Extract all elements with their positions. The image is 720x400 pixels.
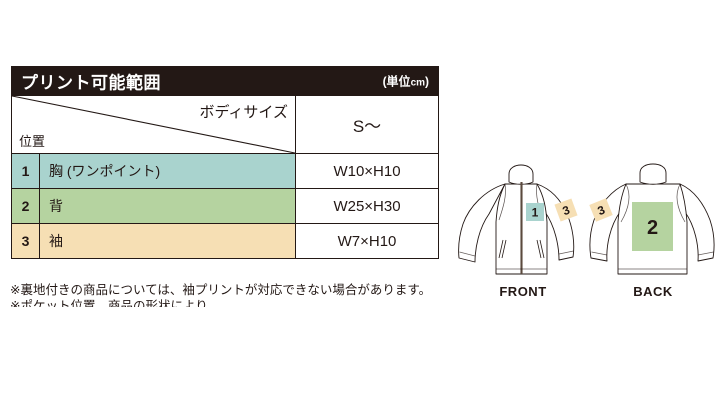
- header-size-value: S〜: [296, 96, 439, 154]
- front-caption: FRONT: [478, 284, 568, 299]
- front-badge-1-label: 1: [532, 206, 539, 220]
- print-area-table: プリント可能範囲 (単位cm) ボディサイズ 位置 S〜 1 胸 (ワンポイント: [11, 66, 438, 259]
- back-badge-2-label: 2: [647, 217, 658, 239]
- table-header-row: ボディサイズ 位置 S〜: [12, 96, 439, 154]
- table-title-bar: プリント可能範囲 (単位cm): [12, 67, 439, 96]
- header-position-label: 位置: [19, 131, 45, 150]
- table-title: プリント可能範囲: [21, 69, 161, 94]
- row-value-1: W10×H10: [296, 154, 439, 189]
- row-name-2: 背: [40, 189, 296, 224]
- header-body-size-label: ボディサイズ: [199, 101, 288, 122]
- row-number-1: 1: [12, 154, 40, 189]
- row-name-3: 袖: [40, 224, 296, 259]
- row-number-3: 3: [12, 224, 40, 259]
- footnotes: ※裏地付きの商品については、袖プリントが対応できない場合があります。 ※ポケット…: [10, 282, 480, 307]
- table-row: 2 背 W25×H30: [12, 189, 439, 224]
- table-row: 1 胸 (ワンポイント) W10×H10: [12, 154, 439, 189]
- front-badge-1: 1: [526, 203, 544, 221]
- print-area-spec-sheet: プリント可能範囲 (単位cm) ボディサイズ 位置 S〜 1 胸 (ワンポイント: [0, 0, 720, 400]
- row-value-3: W7×H10: [296, 224, 439, 259]
- back-caption: BACK: [608, 284, 698, 299]
- table-row: 3 袖 W7×H10: [12, 224, 439, 259]
- footnote-line-2-clipped: ※ポケット位置、商品の形状により: [10, 298, 480, 307]
- front-jacket-illustration: 1 3: [459, 165, 578, 274]
- back-jacket-illustration: 2 3: [589, 164, 714, 274]
- row-number-2: 2: [12, 189, 40, 224]
- footnote-line-1: ※裏地付きの商品については、袖プリントが対応できない場合があります。: [10, 282, 480, 298]
- table-unit-note: (単位cm): [383, 73, 429, 90]
- row-name-1: 胸 (ワンポイント): [40, 154, 296, 189]
- back-badge-2: 2: [632, 202, 673, 251]
- table-title-row: プリント可能範囲 (単位cm): [12, 67, 439, 96]
- row-value-2: W25×H30: [296, 189, 439, 224]
- header-diagonal-cell: ボディサイズ 位置: [12, 96, 296, 154]
